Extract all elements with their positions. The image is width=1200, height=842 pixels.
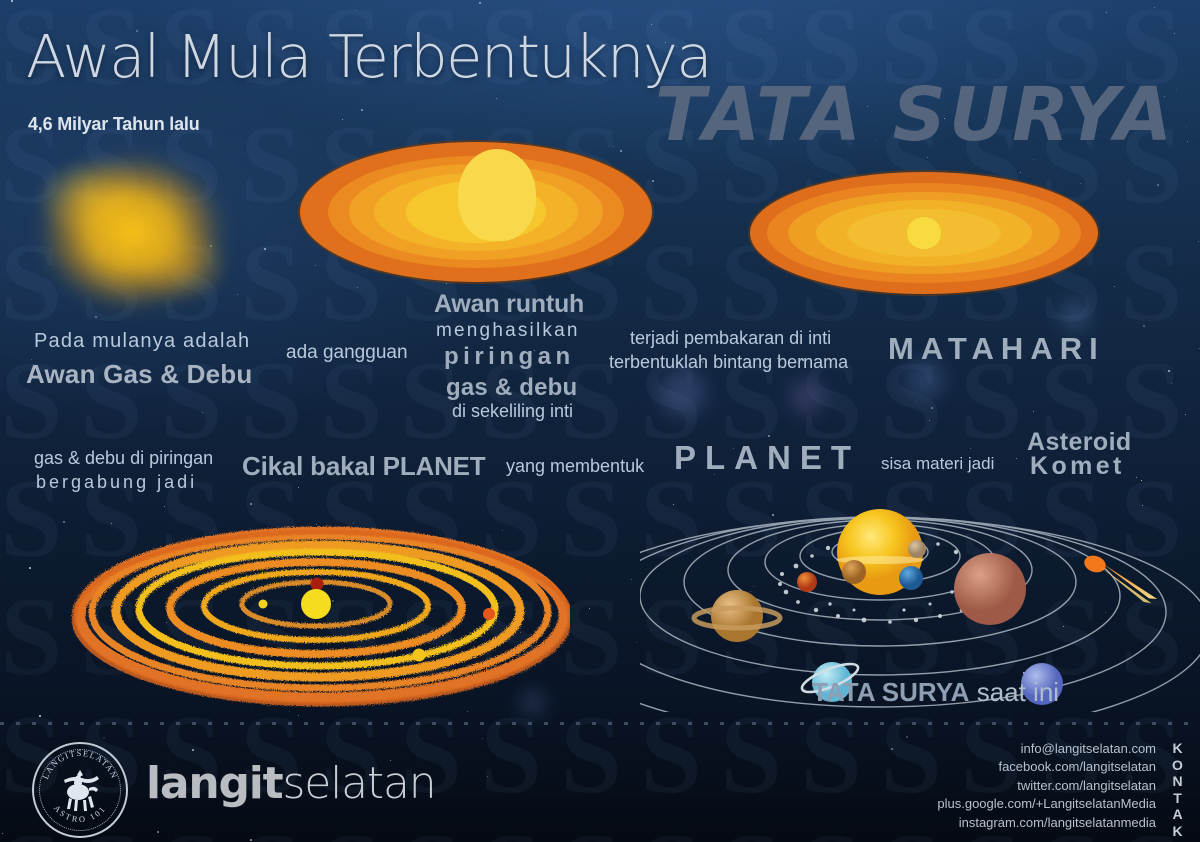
contact-list: info@langitselatan.com facebook.com/lang… [937,740,1156,832]
collapse-line4: gas & debu [446,375,577,402]
brand-light: selatan [283,758,436,809]
solar-system-label-bold: TATA SURYA [812,677,969,707]
planets-connector: yang membentuk [506,456,644,476]
solar-system-label-light: saat ini [977,677,1059,707]
cloud-caption-small: Pada mulanya adalah [34,330,250,352]
contact-googleplus[interactable]: plus.google.com/+LangitselatanMedia [937,795,1156,813]
footer-divider [0,722,1200,725]
contact-email[interactable]: info@langitselatan.com [937,740,1156,758]
collapse-line2: menghasilkan [436,320,580,341]
solar-system-diagram-label: TATA SURYA saat ini [812,678,1059,707]
page-title-line1: Awal Mula Terbentuknya [26,22,711,91]
planetesimal-line2: bergabung jadi [36,472,197,492]
centaur-emblem [64,770,99,811]
contact-twitter[interactable]: twitter.com/langitselatan [937,777,1156,795]
matahari-label: MATAHARI [888,332,1105,367]
planet-venus [842,560,866,584]
brand-wordmark: langitselatan [146,758,435,809]
collapse-line1: Awan runtuh [434,290,584,318]
contact-instagram[interactable]: instagram.com/langitselatanmedia [937,814,1156,832]
infographic-canvas: SSSSSSSSSSSSSSSSSSSSSSSSSSSSSSSSSSSSSSSS… [0,0,1200,842]
contact-heading: KONTAK [1170,740,1186,839]
planet-mars [797,572,817,592]
protoplanetary-disk-visual [70,512,570,712]
cikal-bakal-planet-label: Cikal bakal PLANET [242,452,485,481]
proto-star [301,589,331,619]
disturbance-caption: ada gangguan [286,342,408,363]
collapse-line5: di sekeliling inti [452,401,573,421]
brand-bold: langit [146,758,283,809]
planetesimal-line1: gas & debu di piringan [34,448,213,468]
star-line1: terjadi pembakaran di inti [630,328,831,348]
gas-and-dust-cloud-visual [18,128,254,336]
protoplanet-1 [311,578,324,591]
collapsing-disk-visual [300,142,652,282]
contact-facebook[interactable]: facebook.com/langitselatan [937,758,1156,776]
cloud-caption-bold: Awan Gas & Debu [26,360,252,389]
planet-jupiter [954,553,1026,625]
collapse-line3: piringan [444,344,575,371]
star-line2: terbentuklah bintang bernama [609,352,848,372]
leftovers-connector: sisa materi jadi [881,454,994,473]
planet-bumi [899,566,923,590]
protoplanet-2 [483,608,495,620]
langitselatan-seal-logo: LANGITSELATAN ASTRO 101 [32,742,128,838]
svg-text:ASTRO 101: ASTRO 101 [52,804,108,825]
page-title-line2: TATA SURYA [655,72,1175,158]
protoplanet-4 [259,600,268,609]
seal-bottom-text: ASTRO 101 [52,804,108,825]
planet-merkurius [908,540,926,558]
protoplanet-3 [413,649,426,662]
planet-label: PLANET [674,440,860,477]
komet-label: Komet [1030,452,1125,480]
star-with-disk-visual [750,172,1098,294]
